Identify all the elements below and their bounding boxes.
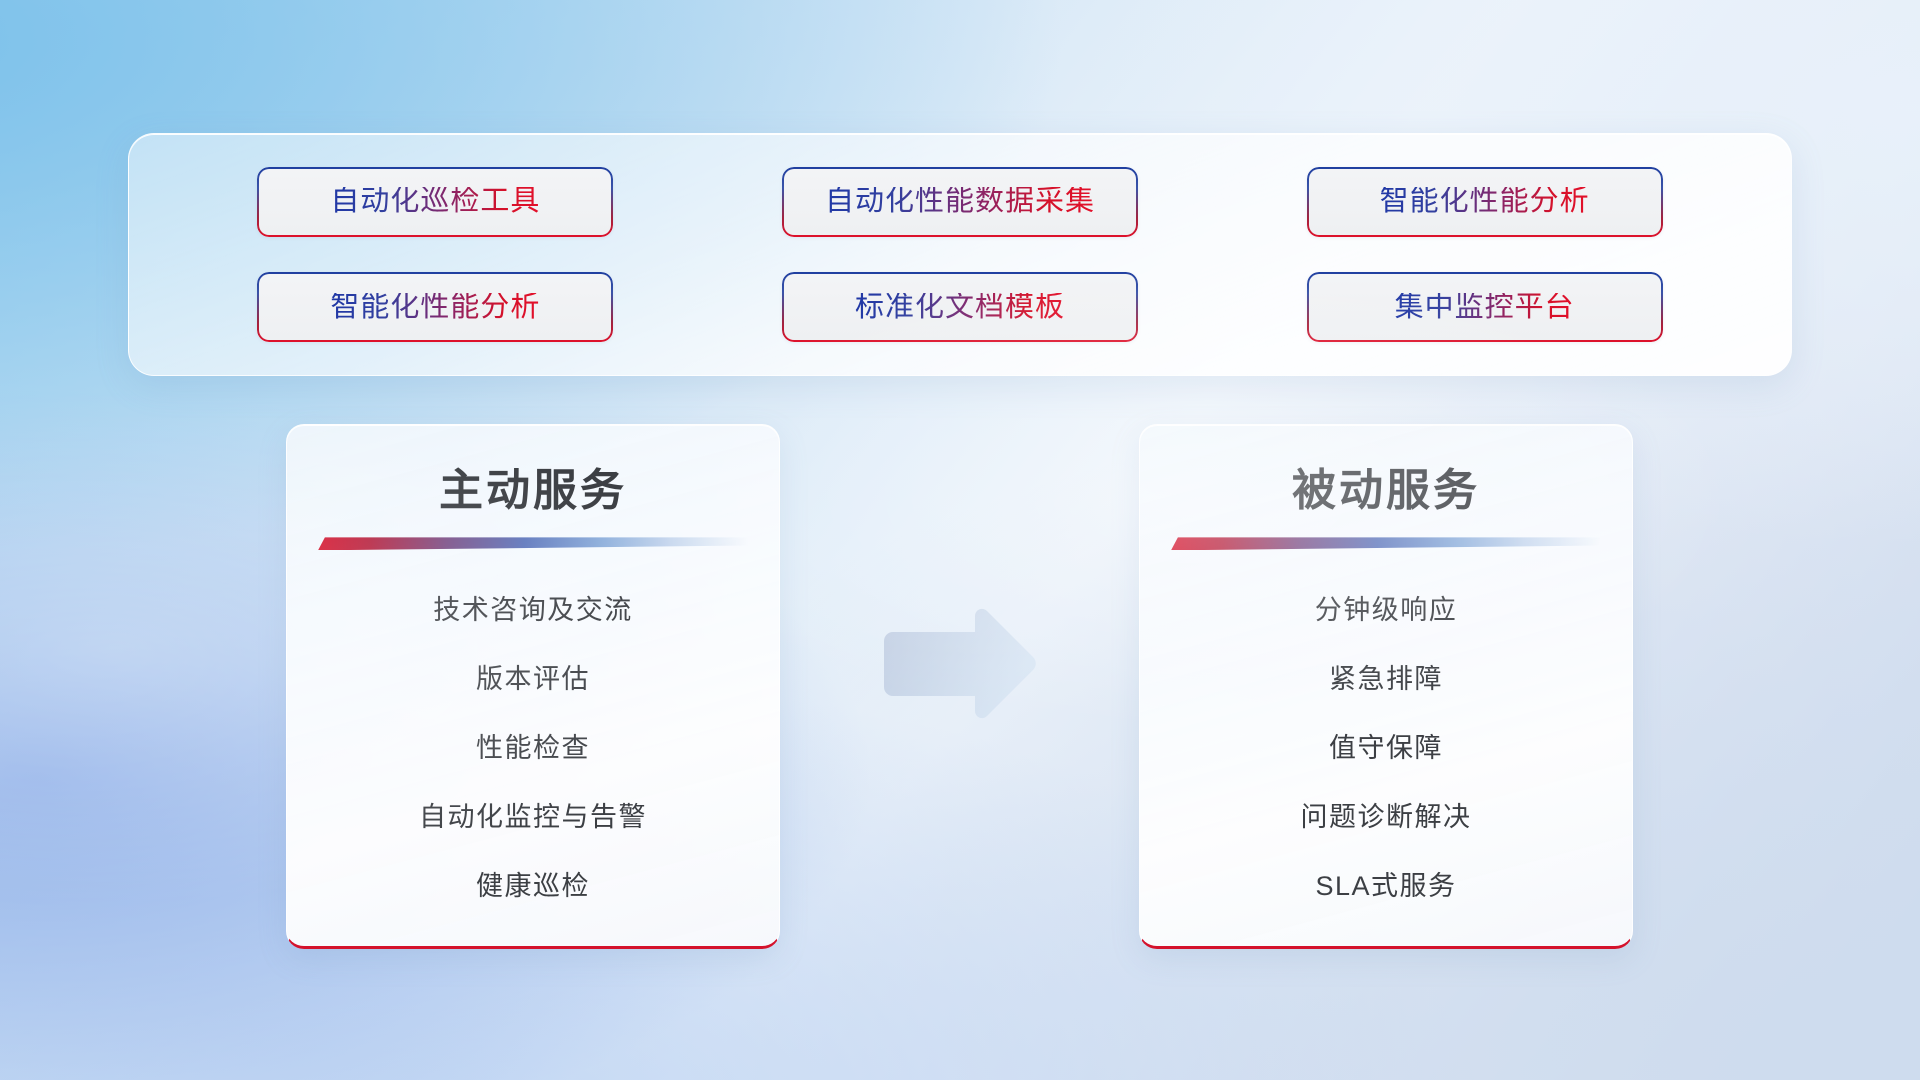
list-item: 问题诊断解决 — [1170, 783, 1602, 852]
arrow-right-icon — [876, 608, 1042, 720]
list-item: 值守保障 — [1170, 714, 1602, 783]
list-item: 紧急排障 — [1170, 645, 1602, 714]
list-item: 分钟级响应 — [1170, 576, 1602, 645]
capability-tags-panel: 自动化巡检工具 自动化性能数据采集 智能化性能分析 智能化性能分析 标准化文档模… — [128, 133, 1792, 376]
list-item: 技术咨询及交流 — [317, 576, 749, 645]
card-title: 被动服务 — [1292, 467, 1480, 515]
service-item-list: 技术咨询及交流 版本评估 性能检查 自动化监控与告警 健康巡检 — [317, 576, 749, 921]
service-card-reactive[interactable]: 被动服务 分钟级响应 紧急排障 值守保障 问题诊断解决 SLA式服务 — [1139, 424, 1633, 949]
capability-tag-1[interactable]: 自动化巡检工具 — [257, 167, 613, 237]
capability-tag-label: 集中监控平台 — [1395, 293, 1575, 322]
service-item-list: 分钟级响应 紧急排障 值守保障 问题诊断解决 SLA式服务 — [1170, 576, 1602, 921]
capability-tag-4[interactable]: 智能化性能分析 — [257, 272, 613, 342]
service-card-proactive[interactable]: 主动服务 技术咨询及交流 版本评估 性能检查 自动化监控与告警 健康巡检 — [286, 424, 780, 949]
list-item: 自动化监控与告警 — [317, 783, 749, 852]
list-item: 性能检查 — [317, 714, 749, 783]
capability-tag-3[interactable]: 智能化性能分析 — [1307, 167, 1663, 237]
capability-tag-label: 自动化巡检工具 — [330, 187, 540, 216]
list-item: 版本评估 — [317, 645, 749, 714]
list-item: 健康巡检 — [317, 852, 749, 921]
list-item: SLA式服务 — [1170, 852, 1602, 921]
capability-tag-label: 自动化性能数据采集 — [825, 187, 1095, 216]
card-divider — [318, 537, 748, 550]
capability-tag-5[interactable]: 标准化文档模板 — [782, 272, 1138, 342]
capability-tag-label: 智能化性能分析 — [1380, 187, 1590, 216]
capability-tag-6[interactable]: 集中监控平台 — [1307, 272, 1663, 342]
capability-tag-2[interactable]: 自动化性能数据采集 — [782, 167, 1138, 237]
card-divider — [1171, 537, 1601, 550]
card-title: 主动服务 — [439, 467, 627, 515]
slide-canvas: 自动化巡检工具 自动化性能数据采集 智能化性能分析 智能化性能分析 标准化文档模… — [0, 0, 1920, 1080]
capability-tag-label: 智能化性能分析 — [330, 293, 540, 322]
capability-tag-label: 标准化文档模板 — [855, 293, 1065, 322]
